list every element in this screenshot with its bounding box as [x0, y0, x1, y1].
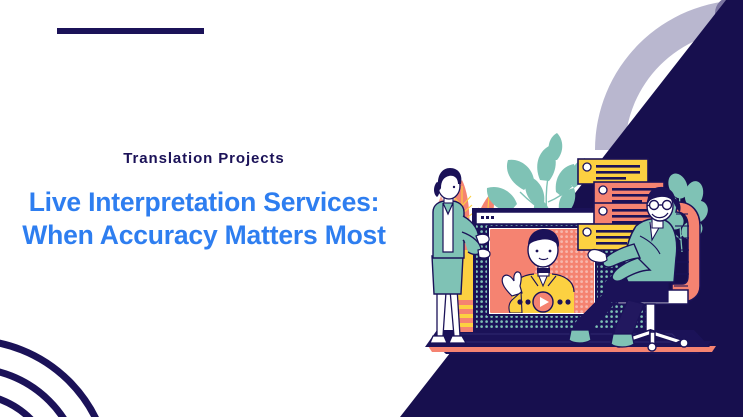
page-title: Live Interpretation Services: When Accur…	[0, 186, 408, 252]
browser-dots-icon	[481, 216, 494, 219]
corner-arcs-decoration	[0, 340, 110, 417]
page-title-line-2: When Accuracy Matters Most	[0, 219, 408, 252]
page-title-line-1: Live Interpretation Services:	[29, 187, 380, 217]
eyebrow-label: Translation Projects	[0, 150, 408, 167]
chat-bubble-1	[578, 159, 648, 184]
slide-canvas: Translation Projects Live Interpretation…	[0, 0, 743, 417]
accent-bar	[57, 28, 204, 34]
